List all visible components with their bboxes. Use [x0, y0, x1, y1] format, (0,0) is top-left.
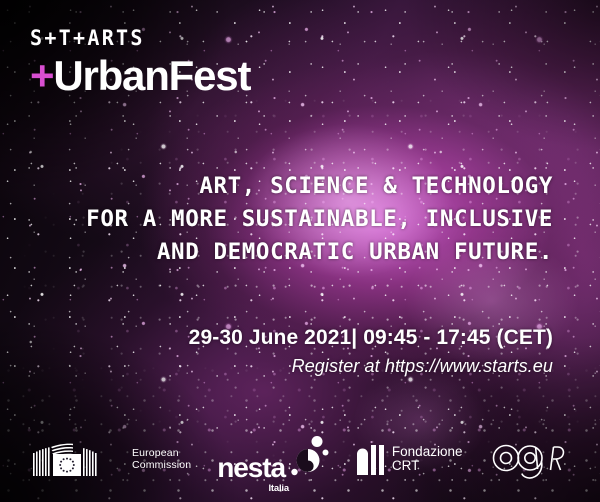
ogr-wordmark-icon	[492, 438, 566, 480]
event-details: 29-30 June 2021| 09:45 - 17:45 (CET) Reg…	[189, 326, 553, 377]
crt-line-2: CRT	[392, 459, 463, 474]
ec-line-1: European	[132, 447, 191, 460]
fondazione-crt-bars-icon	[356, 442, 386, 476]
nesta-wordmark: nestaItalia	[217, 455, 285, 482]
headline-line-1: ART, SCIENCE & TECHNOLOGY	[86, 170, 553, 203]
logo-fondazione-crt: Fondazione CRT	[356, 442, 463, 476]
nesta-label: nesta	[217, 452, 285, 483]
urbanfest-wordmark: +UrbanFest	[30, 55, 250, 97]
logo-nesta-italia: nestaItalia	[217, 436, 330, 482]
european-commission-label: European Commission	[132, 447, 191, 472]
brand-lockup: S+T+ARTS +UrbanFest	[30, 27, 250, 97]
logo-european-commission: European Commission	[33, 442, 191, 476]
headline: ART, SCIENCE & TECHNOLOGY FOR A MORE SUS…	[86, 170, 553, 269]
register-link[interactable]: Register at https://www.starts.eu	[189, 356, 553, 377]
fondazione-crt-label: Fondazione CRT	[392, 445, 463, 474]
nesta-italia-label: Italia	[268, 484, 288, 493]
event-date-time: 29-30 June 2021| 09:45 - 17:45 (CET)	[189, 326, 553, 350]
partner-logo-bar: European Commission nestaItalia	[0, 428, 600, 490]
plus-symbol: +	[30, 52, 53, 99]
ec-line-2: Commission	[132, 459, 191, 472]
nesta-circle-icon	[290, 436, 330, 480]
starts-wordmark: S+T+ARTS	[30, 27, 250, 48]
headline-line-3: AND DEMOCRATIC URBAN FUTURE.	[86, 236, 553, 269]
crt-line-1: Fondazione	[392, 445, 463, 460]
headline-line-2: FOR A MORE SUSTAINABLE, INCLUSIVE	[86, 203, 553, 236]
urbanfest-label: UrbanFest	[53, 52, 250, 99]
event-poster: S+T+ARTS +UrbanFest ART, SCIENCE & TECHN…	[0, 0, 600, 502]
european-commission-flag-icon	[33, 442, 125, 476]
logo-ogr	[492, 438, 566, 480]
